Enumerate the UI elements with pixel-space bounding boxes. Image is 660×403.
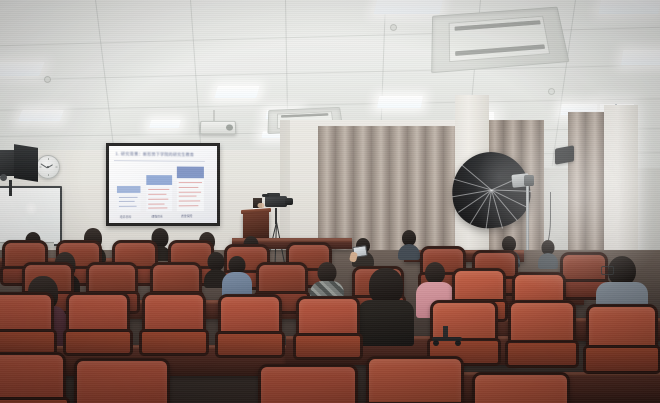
slide-divider	[114, 160, 205, 162]
chair-seat	[505, 340, 578, 368]
attendee-head	[425, 262, 445, 284]
slide-block-header	[177, 167, 204, 179]
slide-text-line	[148, 194, 166, 195]
slide-block	[116, 186, 140, 212]
attendee	[358, 268, 414, 344]
chair-seat	[139, 329, 208, 356]
whiteboard-glare	[24, 201, 38, 216]
ceiling-tile-line	[95, 0, 116, 167]
ceiling-light-panel	[598, 0, 660, 14]
ceiling-tile-line	[0, 65, 660, 81]
slide-text-line	[179, 201, 200, 202]
caster-wheel-icon	[455, 340, 461, 346]
attendee-head	[318, 262, 337, 283]
slide-block-header	[146, 175, 172, 184]
chair-seat	[0, 397, 70, 403]
office-chair	[432, 326, 462, 348]
slide-block	[146, 175, 172, 211]
slide-title: 1. 研究背景：新形势下学院的研究生教育	[115, 151, 202, 159]
slide-block-body	[177, 178, 204, 211]
slide-text-line	[119, 205, 137, 206]
chair-seat	[63, 329, 132, 356]
chair-back	[472, 372, 570, 403]
studio-light-panel	[0, 146, 40, 188]
attendee-torso	[538, 253, 558, 269]
ceiling-light-panel	[149, 120, 181, 128]
chair	[142, 292, 206, 350]
eyeglasses-icon	[601, 266, 614, 275]
slide-text-line	[148, 189, 169, 190]
chair	[472, 372, 570, 403]
video-camera	[262, 193, 294, 211]
chair	[296, 296, 360, 354]
clock-tick	[55, 167, 57, 168]
clock-tick	[48, 158, 49, 160]
studio-light-stem	[9, 180, 12, 196]
chair-back	[0, 352, 66, 403]
chair-seat	[293, 333, 362, 360]
softbox-light	[452, 152, 540, 242]
ceiling-light-panel	[18, 110, 64, 121]
ceiling-light-panel	[621, 50, 660, 65]
slide: 1. 研究背景：新形势下学院的研究生教育	[109, 146, 212, 223]
chair	[74, 358, 170, 403]
slide-caption: 培养目标	[120, 215, 132, 219]
slide-text-line	[179, 182, 202, 183]
projector-lens-icon	[226, 124, 233, 130]
chair	[0, 352, 66, 403]
camera-body	[265, 196, 287, 207]
studio-light-flag	[14, 144, 38, 182]
ceiling-light-panel	[0, 62, 45, 76]
camera-microphone	[262, 194, 269, 197]
slide-caption: 质量保障	[181, 214, 192, 218]
ceiling-ac-unit	[431, 7, 569, 74]
chair	[258, 364, 358, 403]
slide-text-line	[179, 205, 198, 206]
softbox-rib	[491, 189, 527, 207]
chair-seat	[583, 345, 660, 374]
ceiling-light-panel	[214, 86, 259, 98]
chair	[366, 356, 464, 403]
attendee-torso	[358, 300, 414, 346]
chair-back	[74, 358, 170, 403]
caster-wheel-icon	[433, 340, 439, 346]
attendee	[398, 230, 420, 260]
chair-back	[366, 356, 464, 403]
photo-lecture-hall: 1. 研究背景：新形势下学院的研究生教育	[0, 0, 660, 403]
ceiling-sprinkler-icon	[44, 76, 51, 83]
chair	[586, 304, 658, 368]
ceiling-projector	[200, 121, 237, 134]
chair	[508, 300, 576, 362]
slide-text-line	[179, 191, 201, 192]
projection-screen-surface: 1. 研究背景：新形势下学院的研究生教育	[109, 146, 217, 223]
chair-seat	[215, 331, 284, 358]
slide-text-line	[148, 199, 168, 200]
clock-tick	[48, 174, 49, 176]
wall-speaker	[555, 145, 574, 164]
slide-text-line	[119, 197, 138, 198]
chair-back	[258, 364, 358, 403]
attendee	[538, 240, 558, 270]
projection-screen: 1. 研究背景：新形势下学院的研究生教育	[106, 143, 220, 226]
slide-text-line	[179, 196, 197, 197]
ceiling-sprinkler-icon	[548, 88, 555, 95]
slide-text-line	[119, 201, 135, 202]
chair	[218, 294, 282, 352]
slide-text-line	[179, 187, 199, 188]
slide-block-body	[146, 185, 172, 212]
slide-text-line	[148, 208, 167, 209]
chair	[66, 292, 130, 350]
softbox-head	[524, 175, 534, 186]
clock-hub	[47, 166, 49, 168]
softbox-dish	[448, 148, 534, 232]
ceiling-light-panel	[377, 96, 423, 108]
camera-lens-icon	[285, 198, 293, 205]
slide-text-line	[148, 204, 165, 205]
attendee-head	[369, 268, 403, 304]
slide-block	[177, 167, 204, 212]
studio-light-knob	[0, 174, 7, 181]
attendee-torso	[398, 244, 420, 260]
slide-block-body	[116, 193, 140, 212]
ceiling-light-panel	[374, 0, 445, 14]
ceiling-sprinkler-icon	[390, 24, 397, 31]
slide-caption: 课程体系	[151, 215, 163, 219]
chair	[0, 292, 54, 350]
